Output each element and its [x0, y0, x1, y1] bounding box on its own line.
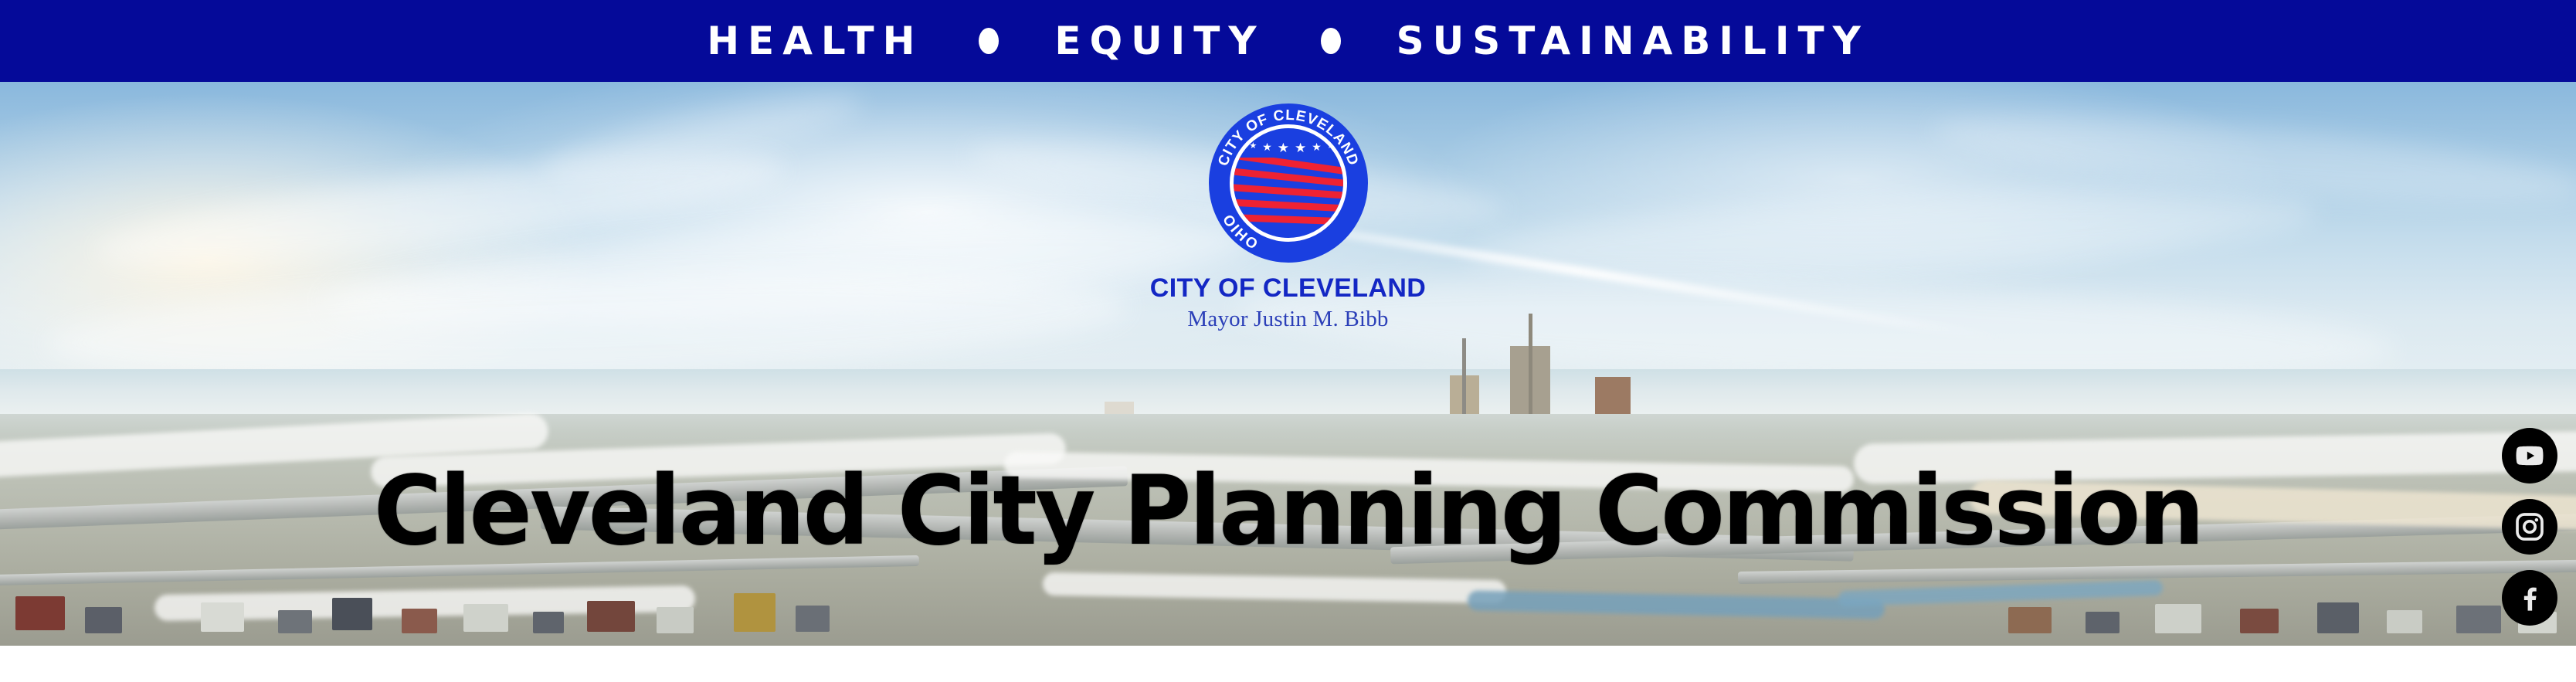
slogan-word-equity: EQUITY [1054, 22, 1264, 60]
slogan-banner-inner: HEALTH EQUITY SUSTAINABILITY [707, 22, 1869, 60]
city-logo-block: CITY OF CLEVELAND OHIO ★ ★ ★ ★ ★ ★ [0, 82, 2576, 331]
social-links [2502, 428, 2557, 626]
facebook-icon[interactable] [2502, 570, 2557, 626]
bottom-white-strip [0, 646, 2576, 682]
seal-inner-ring: ★ ★ ★ ★ ★ ★ [1230, 124, 1347, 242]
page-title: Cleveland City Planning Commission [39, 463, 2537, 559]
waving-us-flag-icon [1234, 158, 1347, 238]
instagram-icon[interactable] [2502, 499, 2557, 555]
youtube-icon[interactable] [2502, 428, 2557, 484]
city-logo-title: CITY OF CLEVELAND [1150, 275, 1427, 303]
slogan-separator-dot-1 [979, 28, 999, 54]
slogan-banner: HEALTH EQUITY SUSTAINABILITY [0, 0, 2576, 82]
slogan-word-health: HEALTH [707, 22, 923, 60]
slogan-separator-dot-2 [1321, 28, 1341, 54]
cleveland-city-seal-icon: CITY OF CLEVELAND OHIO ★ ★ ★ ★ ★ ★ [1209, 103, 1368, 263]
hero-photo: CITY OF CLEVELAND OHIO ★ ★ ★ ★ ★ ★ [0, 82, 2576, 646]
slogan-word-sustainability: SUSTAINABILITY [1397, 22, 1869, 60]
city-logo-subtitle: Mayor Justin M. Bibb [1187, 307, 1388, 331]
